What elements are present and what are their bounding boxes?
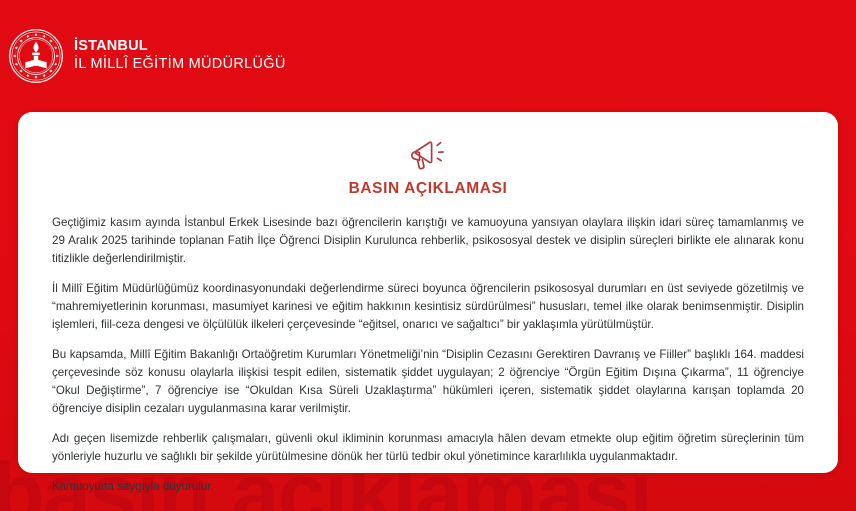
- page-header: İSTANBUL İL MİLLÎ EĞİTİM MÜDÜRLÜĞÜ: [0, 0, 856, 112]
- press-release-card: BASIN AÇIKLAMASI Geçtiğimiz kasım ayında…: [18, 112, 838, 473]
- paragraph-4: Adı geçen lisemizde rehberlik çalışmalar…: [52, 430, 804, 466]
- organization-name: İSTANBUL İL MİLLÎ EĞİTİM MÜDÜRLÜĞÜ: [74, 38, 286, 73]
- paragraph-1: Geçtiğimiz kasım ayında İstanbul Erkek L…: [52, 214, 804, 268]
- ministry-of-education-emblem-icon: [8, 28, 64, 84]
- press-release-body: Geçtiğimiz kasım ayında İstanbul Erkek L…: [52, 214, 804, 496]
- megaphone-icon: [52, 134, 804, 174]
- paragraph-3: Bu kapsamda, Millî Eğitim Bakanlığı Orta…: [52, 346, 804, 418]
- org-directorate-label: İL MİLLÎ EĞİTİM MÜDÜRLÜĞÜ: [74, 56, 286, 72]
- page-title: BASIN AÇIKLAMASI: [52, 180, 804, 198]
- org-city-label: İSTANBUL: [74, 38, 286, 54]
- paragraph-2: İl Millî Eğitim Müdürlüğümüz koordinasyo…: [52, 280, 804, 334]
- page-background: basın açıklaması: [0, 0, 856, 511]
- closing-line: Kamuoyuna saygıyla duyurulur.: [52, 478, 804, 496]
